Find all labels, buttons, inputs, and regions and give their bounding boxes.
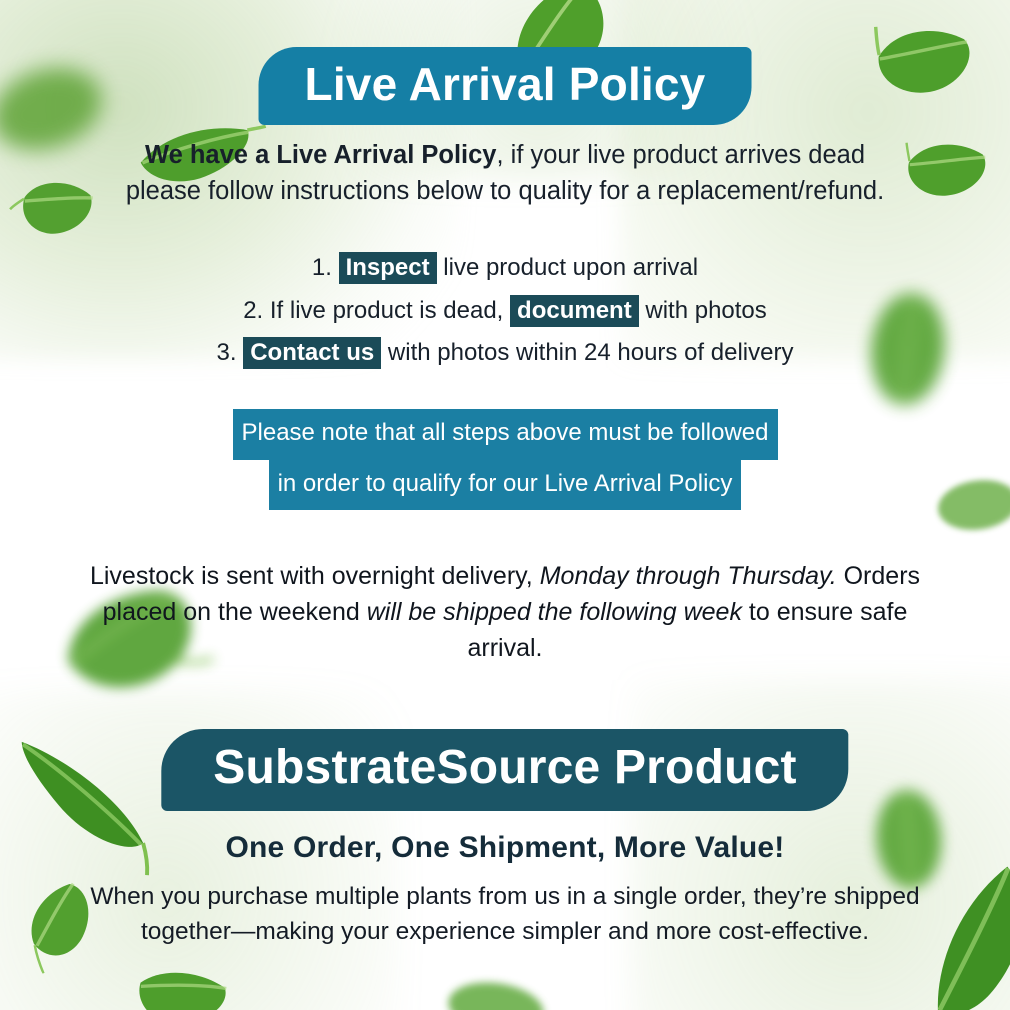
- step-keyword-highlight: document: [510, 295, 639, 327]
- product-body-paragraph: When you purchase multiple plants from u…: [75, 879, 935, 950]
- policy-note-line-2: in order to qualify for our Live Arrival…: [269, 460, 742, 511]
- policy-intro-bold: We have a Live Arrival Policy: [145, 141, 497, 169]
- shipping-schedule-paragraph: Livestock is sent with overnight deliver…: [65, 559, 945, 666]
- live-arrival-policy-banner: Live Arrival Policy: [259, 47, 752, 125]
- step-text: with photos within 24 hours of delivery: [388, 339, 794, 366]
- product-subheading: One Order, One Shipment, More Value!: [55, 831, 955, 865]
- policy-note-line-2-wrap: in order to qualify for our Live Arrival…: [75, 460, 935, 511]
- step-number: 3.: [217, 339, 237, 366]
- policy-step-1: 1. Inspect live product upon arrival: [75, 247, 935, 290]
- policy-steps-list: 1. Inspect live product upon arrival 2. …: [75, 247, 935, 375]
- live-arrival-policy-infographic: Live Arrival Policy We have a Live Arriv…: [0, 0, 1010, 1010]
- policy-note-line-1-wrap: Please note that all steps above must be…: [75, 409, 935, 460]
- content-root: Live Arrival Policy We have a Live Arriv…: [0, 0, 1010, 1010]
- step-text-pre: If live product is dead,: [270, 297, 503, 324]
- step-keyword-highlight: Contact us: [243, 337, 381, 369]
- step-keyword-highlight: Inspect: [339, 252, 437, 284]
- step-text: with photos: [645, 297, 766, 324]
- step-number: 2.: [243, 297, 263, 324]
- shipping-line1-italic: Monday through Thursday.: [540, 562, 837, 590]
- shipping-line1-plain: Livestock is sent with overnight deliver…: [90, 562, 533, 590]
- step-number: 1.: [312, 254, 332, 281]
- policy-step-3: 3. Contact us with photos within 24 hour…: [75, 332, 935, 375]
- policy-intro-paragraph: We have a Live Arrival Policy, if your l…: [105, 137, 905, 209]
- shipping-line2-italic: will be shipped the following week: [367, 598, 742, 626]
- substratesource-product-banner: SubstrateSource Product: [161, 729, 848, 811]
- policy-note-line-1: Please note that all steps above must be…: [233, 409, 778, 460]
- step-text: live product upon arrival: [443, 254, 698, 281]
- policy-step-2: 2. If live product is dead, document wit…: [75, 290, 935, 333]
- policy-note-block: Please note that all steps above must be…: [75, 409, 935, 510]
